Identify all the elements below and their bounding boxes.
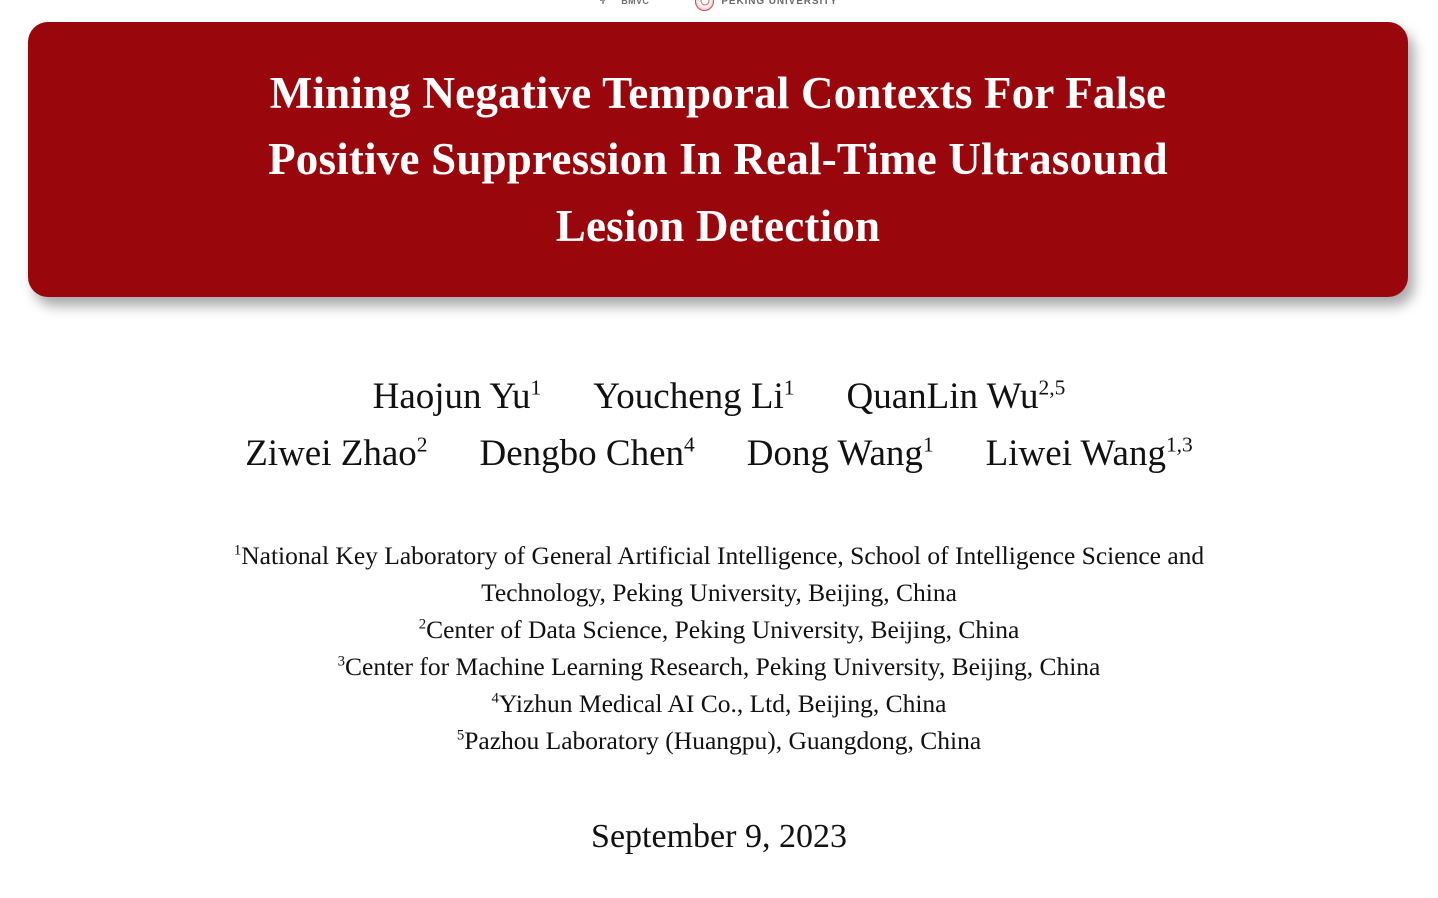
presentation-date: September 9, 2023 (0, 818, 1438, 856)
affiliation-list: 1National Key Laboratory of General Arti… (0, 538, 1438, 760)
author-name: Haojun Yu1 (373, 376, 542, 417)
title-banner: Mining Negative Temporal Contexts For Fa… (28, 22, 1408, 297)
author-name: Dong Wang1 (747, 433, 934, 474)
author-name: Ziwei Zhao2 (245, 433, 427, 474)
author-affiliation-marker: 1 (923, 433, 934, 457)
peking-university-seal-icon (695, 0, 714, 11)
author-affiliation-marker: 2,5 (1039, 376, 1066, 400)
affiliation-line: 1National Key Laboratory of General Arti… (0, 538, 1438, 575)
logo-strip: BMVC PEKING UNIVERSITY (0, 0, 1438, 12)
author-affiliation-marker: 2 (417, 433, 428, 457)
author-list: Haojun Yu1Youcheng Li1QuanLin Wu2,5 Ziwe… (0, 368, 1438, 483)
affiliation-marker: 4 (491, 690, 498, 706)
author-name: Youcheng Li1 (593, 376, 794, 417)
author-row: Ziwei Zhao2Dengbo Chen4Dong Wang1Liwei W… (0, 425, 1438, 482)
author-name: QuanLin Wu2,5 (847, 376, 1066, 417)
author-affiliation-marker: 1,3 (1166, 433, 1193, 457)
author-name: Dengbo Chen4 (480, 433, 695, 474)
affiliation-line: 3Center for Machine Learning Research, P… (0, 649, 1438, 686)
affiliation-marker: 1 (234, 543, 241, 559)
title-line-2: Positive Suppression In Real-Time Ultras… (268, 126, 1168, 192)
title-line-3: Lesion Detection (556, 193, 880, 259)
bmvc-logo: BMVC (600, 0, 649, 8)
title-line-1: Mining Negative Temporal Contexts For Fa… (270, 60, 1166, 126)
affiliation-line: 5Pazhou Laboratory (Huangpu), Guangdong,… (0, 723, 1438, 760)
author-row: Haojun Yu1Youcheng Li1QuanLin Wu2,5 (0, 368, 1438, 425)
bmvc-logo-icon (600, 0, 614, 8)
peking-university-label: PEKING UNIVERSITY (721, 0, 837, 7)
author-affiliation-marker: 4 (684, 433, 695, 457)
author-affiliation-marker: 1 (531, 376, 542, 400)
author-affiliation-marker: 1 (784, 376, 795, 400)
affiliation-line: 2Center of Data Science, Peking Universi… (0, 612, 1438, 649)
affiliation-marker: 3 (338, 653, 345, 669)
affiliation-marker: 2 (419, 616, 426, 632)
bmvc-logo-label: BMVC (621, 0, 649, 6)
peking-university-logo: PEKING UNIVERSITY (695, 0, 837, 11)
affiliation-line: 4Yizhun Medical AI Co., Ltd, Beijing, Ch… (0, 686, 1438, 723)
affiliation-line: Technology, Peking University, Beijing, … (0, 575, 1438, 612)
author-name: Liwei Wang1,3 (986, 433, 1193, 474)
affiliation-marker: 5 (457, 727, 464, 743)
